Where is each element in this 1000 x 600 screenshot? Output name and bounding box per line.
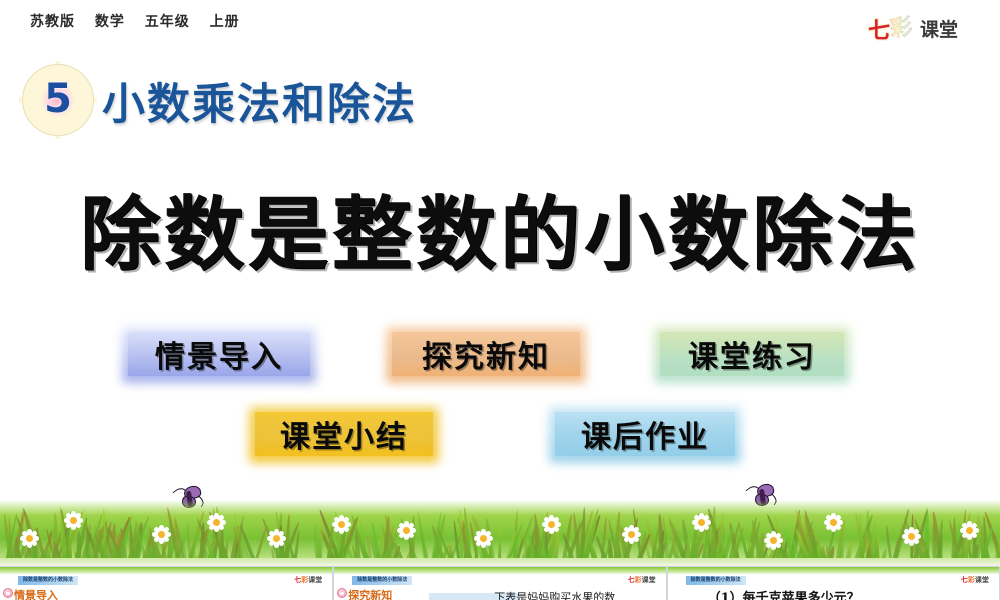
daisy-flower [620, 524, 642, 544]
chick-icon [337, 588, 347, 598]
grass-decoration [0, 494, 1000, 566]
daisy-flower [472, 528, 494, 548]
thumb-grass [334, 567, 665, 574]
daisy-center [628, 531, 635, 538]
thumb-tag: 除数是整数的小数除法 [352, 576, 412, 585]
meta-subject: 数学 [95, 14, 125, 30]
thumb-question-text: （1）每千克苹果多少元？ [708, 587, 860, 600]
daisy-flower [62, 510, 84, 530]
slide-canvas: 苏教版 数学 五年级 上册 七 彩 课堂 5 小数乘法和除法 除数是整数的小数除… [0, 0, 1000, 566]
thumb-body-text: 下表是妈妈购买水果的数 [494, 589, 615, 600]
meta-publisher: 苏教版 [30, 14, 75, 30]
brand-char-cai: 彩 [888, 9, 914, 43]
daisy-flower [265, 528, 287, 548]
page-title: 除数是整数的小数除法 [0, 170, 1000, 286]
thumb-heading: 情景导入 [14, 587, 58, 600]
daisy-flower [900, 526, 922, 546]
daisy-center [338, 521, 345, 528]
daisy-center [698, 519, 705, 526]
thumb-tag: 除数是整数的小数除法 [686, 576, 746, 585]
brand-char-qi: 七 [868, 13, 890, 45]
brand-logo: 七 彩 课堂 [868, 8, 976, 42]
daisy-flower [330, 514, 352, 534]
thumbnail-slide-1[interactable]: 除数是整数的小数除法 七彩课堂 情景导入 [0, 566, 333, 600]
chick-icon [3, 588, 13, 598]
daisy-center [908, 533, 915, 540]
textbook-meta: 苏教版 数学 五年级 上册 [30, 11, 254, 31]
thumbnail-slide-3[interactable]: 除数是整数的小数除法 七彩课堂 （1）每千克苹果多少元？ [667, 566, 1000, 600]
daisy-flower [762, 530, 784, 550]
daisy-flower [205, 512, 227, 532]
daisy-center [830, 519, 837, 526]
daisy-center [26, 535, 33, 542]
daisy-flower [822, 512, 844, 532]
daisy-flower [395, 520, 417, 540]
daisy-center [966, 527, 973, 534]
daisy-center [480, 535, 487, 542]
nav-button-explore-new[interactable]: 探究新知 [392, 332, 580, 376]
daisy-flower [150, 524, 172, 544]
daisy-center [158, 531, 165, 538]
daisy-flower [958, 520, 980, 540]
daisy-center [273, 535, 280, 542]
slide-thumbnail-strip: 除数是整数的小数除法 七彩课堂 情景导入 除数是整数的小数除法 七彩课堂 探究新… [0, 566, 1000, 600]
meta-grade: 五年级 [145, 14, 190, 30]
daisy-flower [18, 528, 40, 548]
grass-base-line [0, 558, 1000, 566]
nav-button-class-summary[interactable]: 课堂小结 [255, 412, 433, 456]
chapter-title: 小数乘法和除法 [102, 70, 417, 132]
daisy-center [548, 521, 555, 528]
nav-button-homework[interactable]: 课后作业 [555, 412, 735, 456]
nav-button-situation-intro[interactable]: 情景导入 [128, 332, 310, 376]
daisy-flower [690, 512, 712, 532]
daisy-center [70, 517, 77, 524]
daisy-center [213, 519, 220, 526]
brand-char-ketang: 课堂 [920, 15, 958, 42]
thumb-grass [668, 567, 999, 574]
daisy-flower [540, 514, 562, 534]
thumbnail-slide-2[interactable]: 除数是整数的小数除法 七彩课堂 探究新知 下表是妈妈购买水果的数 [333, 566, 666, 600]
daisy-center [770, 537, 777, 544]
chapter-badge-group: 5 [22, 64, 94, 136]
thumb-tag: 除数是整数的小数除法 [18, 576, 78, 585]
chapter-number: 5 [22, 64, 94, 136]
thumb-grass [0, 567, 332, 574]
thumb-brand-logo: 七彩课堂 [961, 575, 989, 585]
thumb-brand-logo: 七彩课堂 [628, 575, 656, 585]
thumb-heading: 探究新知 [348, 587, 392, 600]
nav-button-class-practice[interactable]: 课堂练习 [660, 332, 844, 376]
thumb-brand-logo: 七彩课堂 [294, 575, 322, 585]
daisy-center [403, 527, 410, 534]
meta-volume: 上册 [210, 14, 240, 30]
chapter-number-badge: 5 [22, 64, 94, 136]
